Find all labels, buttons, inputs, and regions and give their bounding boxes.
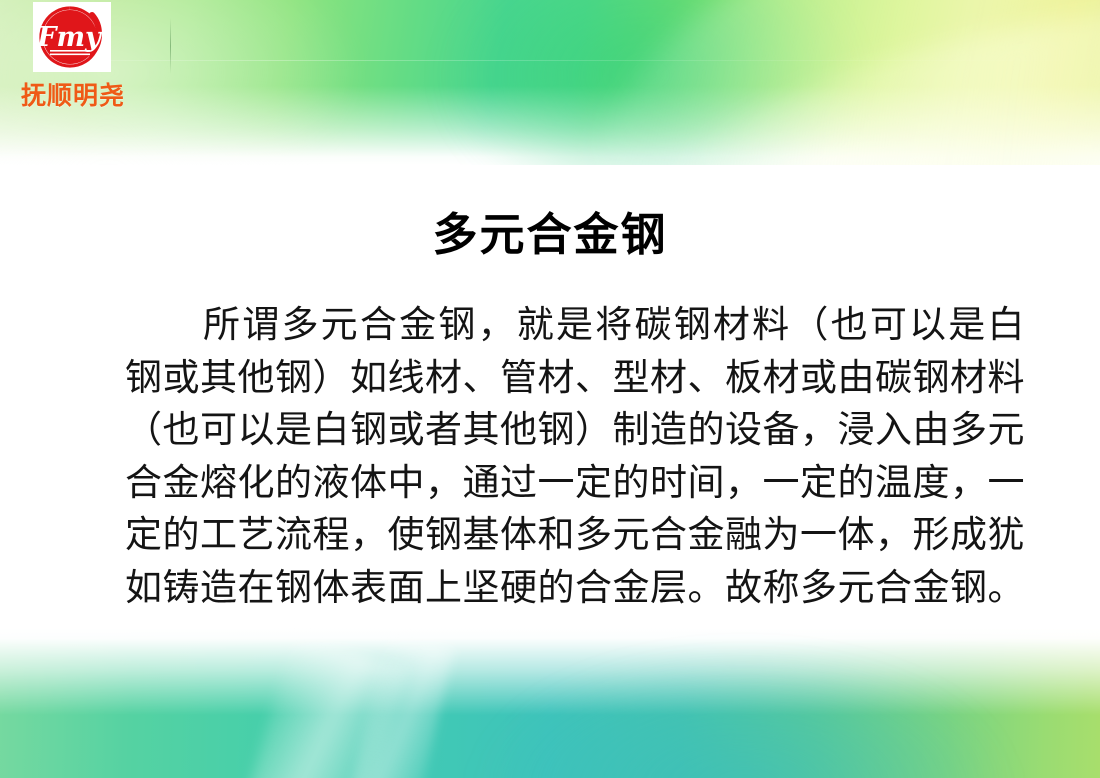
body-paragraph: 所谓多元合金钢，就是将碳钢材料（也可以是白钢或其他钢）如线材、管材、型材、板材或… xyxy=(125,299,1025,614)
brand-logo-block: Fmy 抚顺明尧 xyxy=(0,0,145,120)
slide-content: 多元合金钢 所谓多元合金钢，就是将碳钢材料（也可以是白钢或其他钢）如线材、管材、… xyxy=(0,0,1100,778)
page-title: 多元合金钢 xyxy=(0,198,1100,263)
svg-text:Fmy: Fmy xyxy=(36,22,103,53)
slide-canvas: Fmy 抚顺明尧 多元合金钢 所谓多元合金钢，就是将碳钢材料（也可以是白钢或其他… xyxy=(0,0,1100,778)
fmy-circle-logo-icon: Fmy xyxy=(33,2,111,72)
company-name-label: 抚顺明尧 xyxy=(8,76,138,112)
